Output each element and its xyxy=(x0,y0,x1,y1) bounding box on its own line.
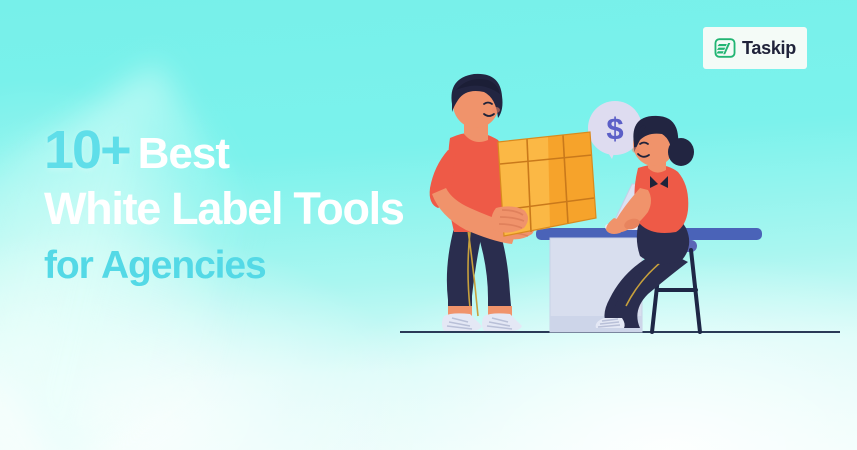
logo-wordmark: Taskip xyxy=(742,39,796,57)
headline-emphasis: Best xyxy=(138,129,229,178)
illustration-svg: $ xyxy=(400,60,840,360)
delivery-handoff-illustration: $ xyxy=(400,60,840,360)
taskip-monogram-icon xyxy=(714,37,736,59)
svg-text:$: $ xyxy=(606,111,623,146)
hero-banner: Taskip 10+Best White Label Tools for Age… xyxy=(0,0,857,450)
headline-count: 10+ xyxy=(44,120,130,180)
woman-hair-bun xyxy=(668,138,694,166)
